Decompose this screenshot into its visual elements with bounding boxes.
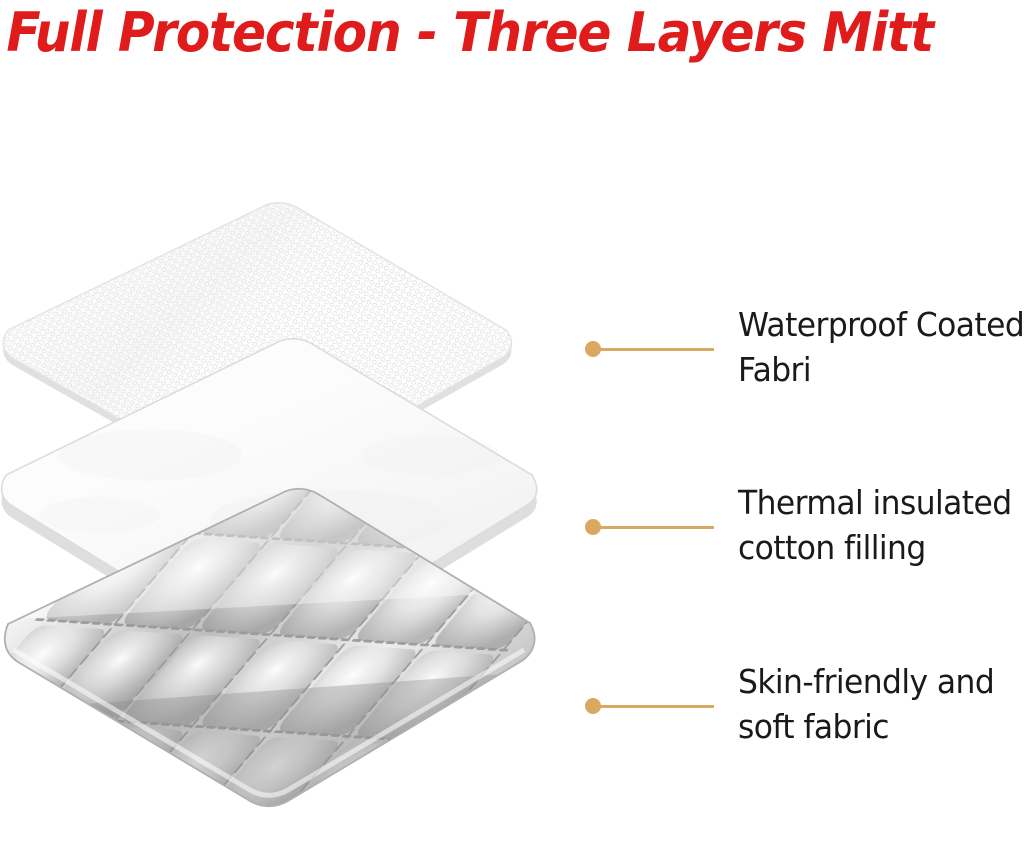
callout-line [598, 705, 714, 708]
callout-line [598, 526, 714, 529]
callout-connector [585, 519, 715, 535]
exploded-layers-illustration [0, 150, 600, 853]
page-title: Full Protection - Three Layers Mitt [0, 2, 939, 64]
callout-label-line-2: Fabri [738, 347, 1010, 392]
callout-label: Skin-friendly and soft fabric [738, 659, 1010, 749]
callout-label-line-1: Skin-friendly and [738, 659, 1010, 704]
callout-connector [585, 698, 715, 714]
callout-label: Thermal insulated cotton filling [738, 480, 1010, 570]
callout-line [598, 348, 714, 351]
callout-label-line-2: soft fabric [738, 704, 1010, 749]
product-infographic: Full Protection - Three Layers Mitt [0, 0, 1024, 853]
callout-label-line-1: Waterproof Coated [738, 302, 1010, 347]
callout-label-line-2: cotton filling [738, 525, 1010, 570]
callout-connector [585, 341, 715, 357]
callout-label: Waterproof Coated Fabri [738, 302, 1010, 392]
callout-label-line-1: Thermal insulated [738, 480, 1010, 525]
